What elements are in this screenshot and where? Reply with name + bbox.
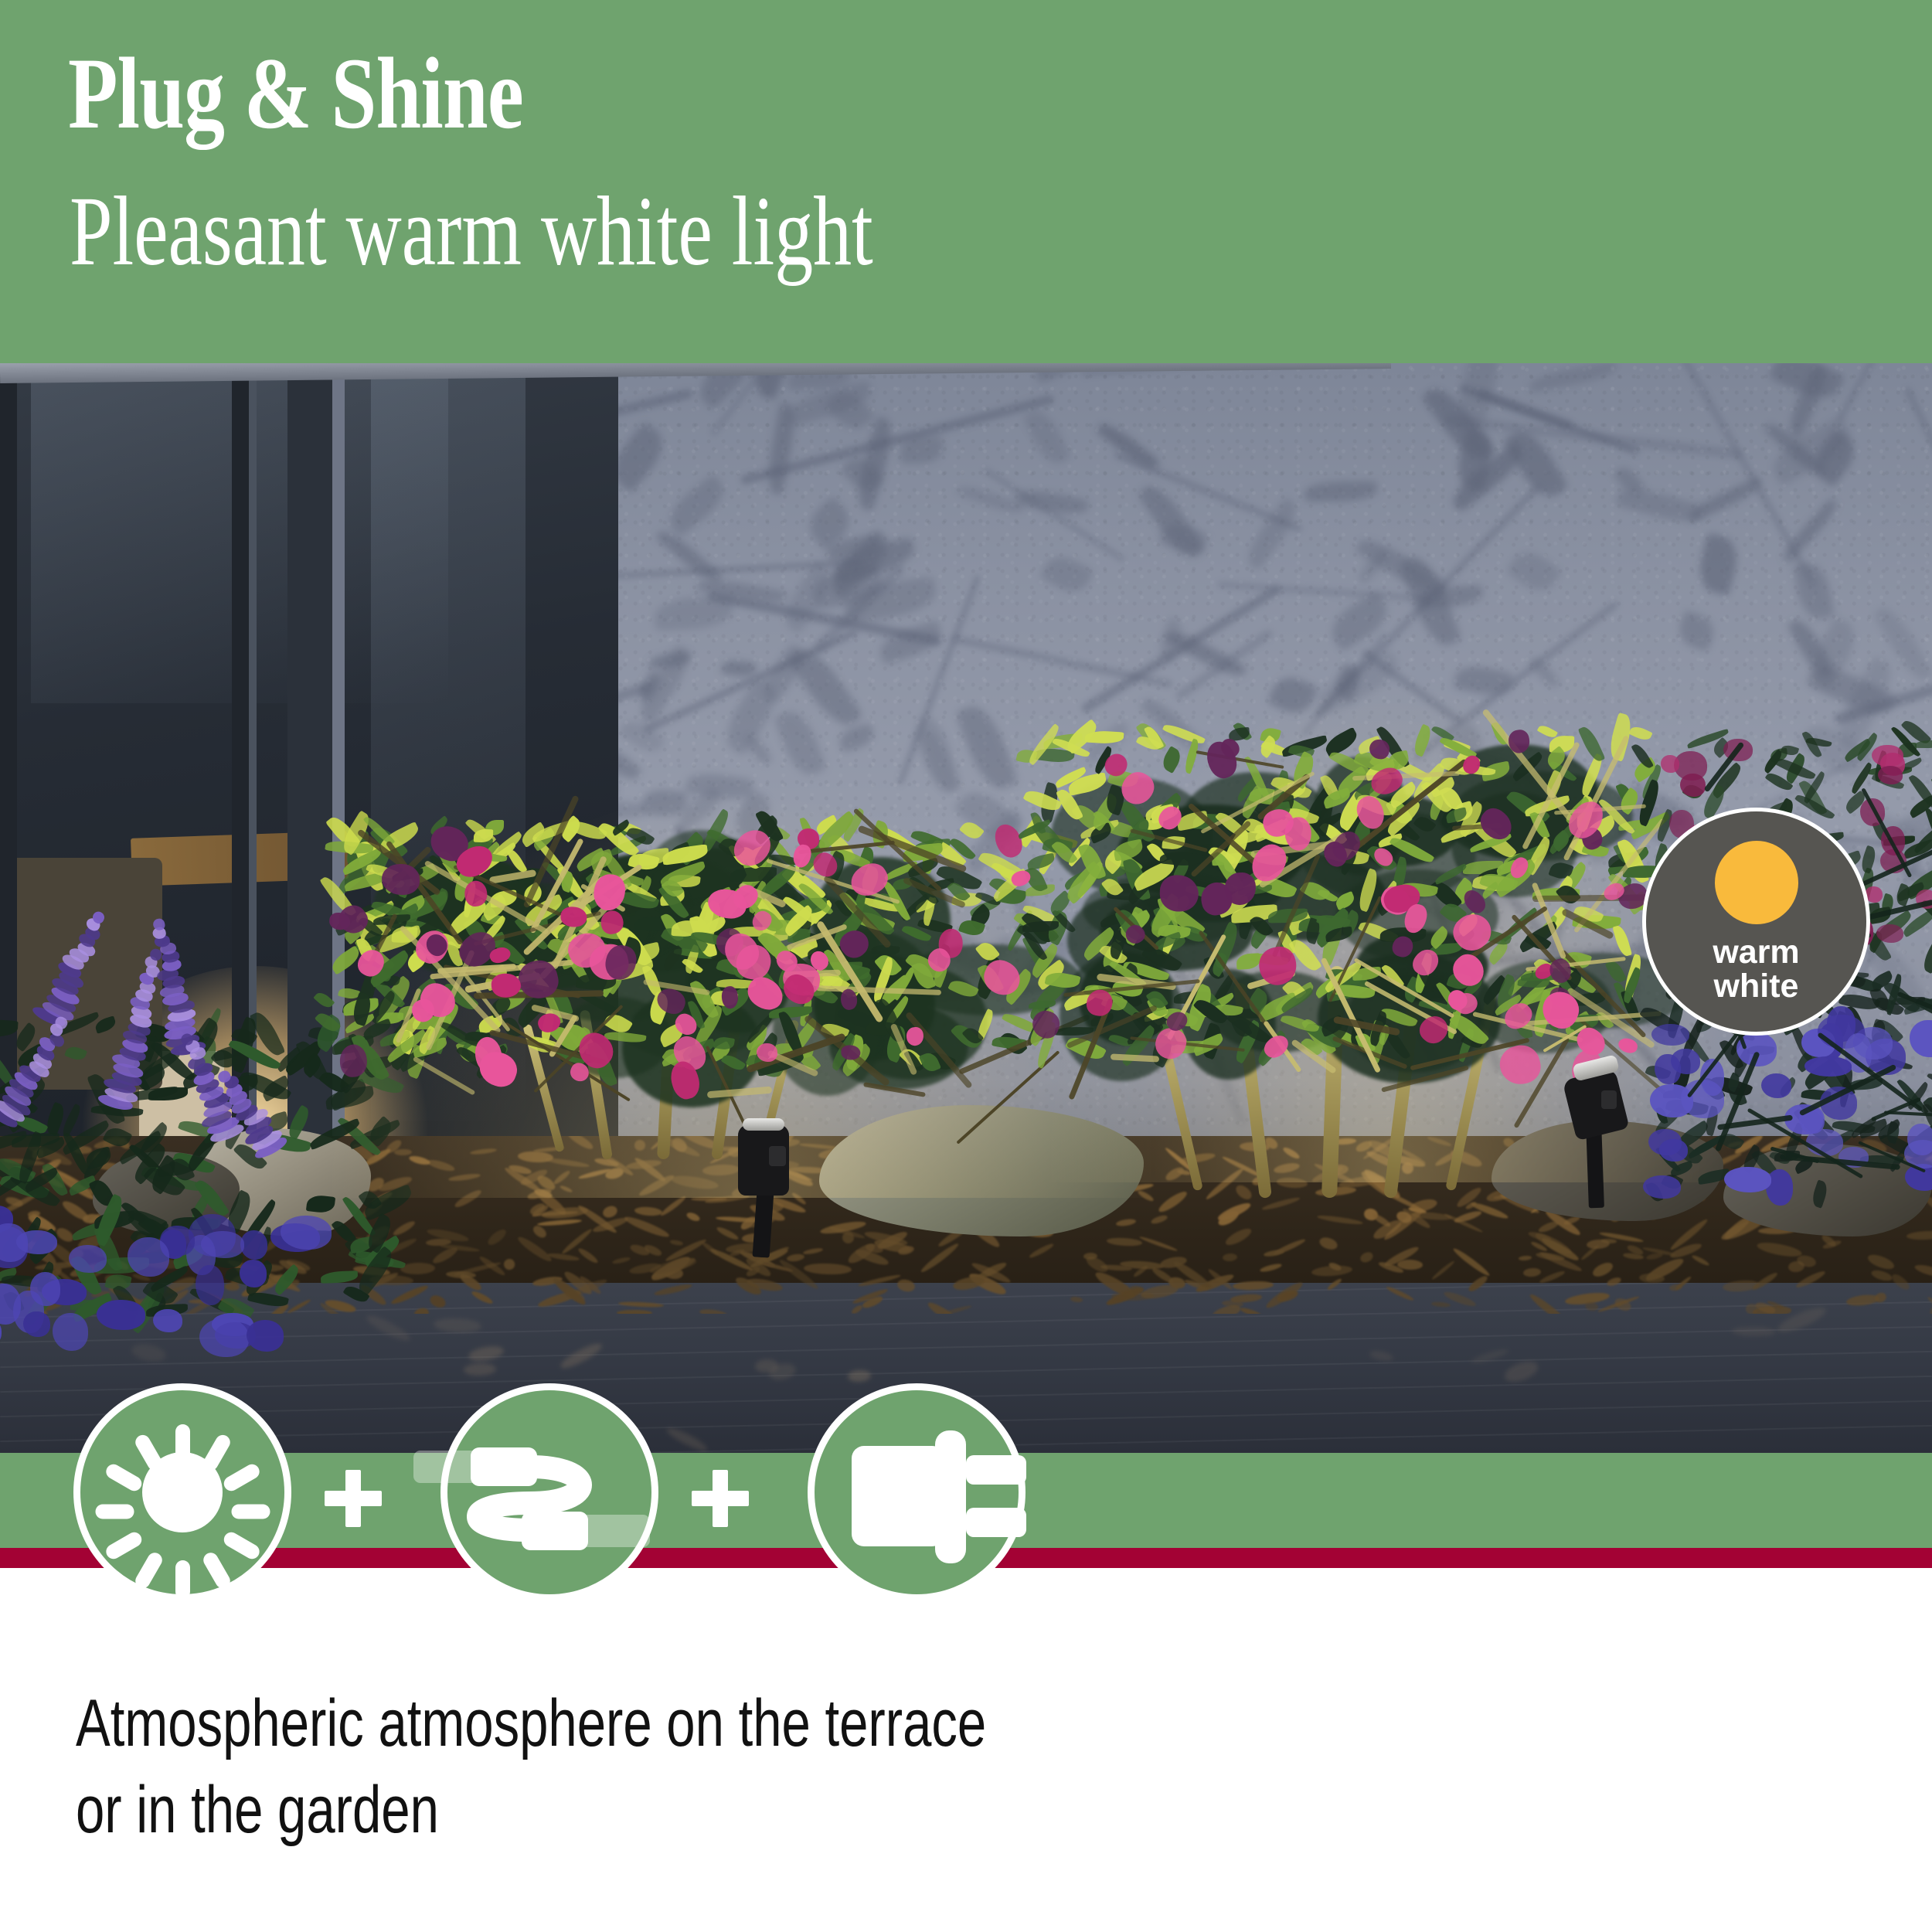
sun-ray [132,1432,164,1473]
warm-white-label: warm white [1713,936,1799,1004]
feature-icon-row [0,1376,1932,1638]
caption-text: Atmospheric atmosphere on the terrace or… [76,1681,1342,1854]
hero-photo: warm white [0,363,1932,1453]
warm-white-badge: warm white [1642,808,1870,1036]
sun-ray [200,1432,232,1473]
page-subtitle: Pleasant warm white light [70,182,873,281]
sun-ray [132,1550,164,1591]
sun-ray [103,1529,144,1561]
sun-ray [103,1461,144,1493]
sun-ray [175,1424,190,1463]
warm-white-line-1: warm [1713,936,1799,970]
sun-ray [95,1505,134,1519]
buddleia-spike [33,897,123,1022]
feature-circle-cable[interactable] [440,1383,658,1601]
warm-white-dot [1715,841,1798,924]
rhododendron-right [1028,734,1662,1213]
sun-ray [221,1529,262,1561]
cable-icon [413,1429,692,1568]
plus-separator-2 [692,1470,749,1527]
sun-ray [231,1505,270,1519]
rhododendron-left [325,827,1066,1190]
feature-circle-plug[interactable] [808,1383,1026,1601]
sun-ray [175,1560,190,1599]
product-marketing-poster: Plug & Shine Pleasant warm white light [0,0,1932,1932]
header-band: Plug & Shine Pleasant warm white light [0,0,1932,363]
sun-ray [200,1550,232,1591]
plus-separator-1 [325,1470,382,1527]
sun-ray [221,1461,262,1493]
page-title: Plug & Shine [68,43,523,145]
feature-circle-sun[interactable] [73,1383,291,1601]
warm-white-line-2: white [1713,970,1799,1004]
